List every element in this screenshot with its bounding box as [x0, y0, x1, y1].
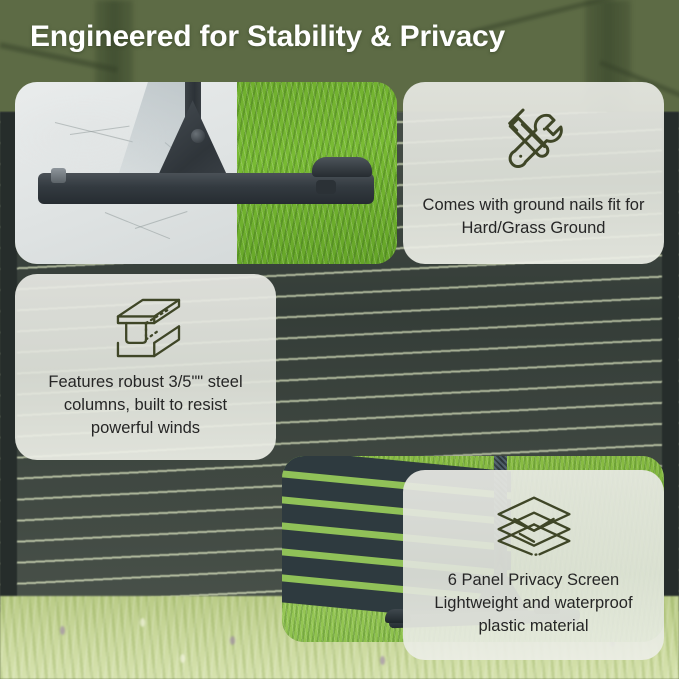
feature-card-privacy-panels: 6 Panel Privacy Screen Lightweight and w… [403, 470, 664, 660]
feature-line: Hard/Grass Ground [423, 217, 645, 240]
feature-line: plastic material [434, 615, 632, 638]
photo-base-foot [15, 82, 397, 264]
bracket-bolt [191, 129, 205, 143]
feature-text-ground-nails: Comes with ground nails fit for Hard/Gra… [409, 194, 659, 240]
feature-text-privacy-panels: 6 Panel Privacy Screen Lightweight and w… [420, 569, 646, 638]
ground-nail-stem [316, 180, 336, 194]
feature-text-steel-columns: Features robust 3/5"" steel columns, bui… [34, 371, 256, 440]
feature-line: powerful winds [48, 417, 242, 440]
feature-card-ground-nails: Comes with ground nails fit for Hard/Gra… [403, 82, 664, 264]
page-title: Engineered for Stability & Privacy [30, 20, 505, 54]
foot-screw [51, 168, 66, 183]
feature-line: Features robust 3/5"" steel [48, 371, 242, 394]
feature-line: 6 Panel Privacy Screen [434, 569, 632, 592]
feature-line: Comes with ground nails fit for [423, 194, 645, 217]
steel-i-beam-icon [106, 295, 186, 361]
background-fence-post-right [662, 112, 679, 612]
infographic-root: Engineered for Stability & Privacy [0, 0, 679, 679]
feature-line: columns, built to resist [48, 394, 242, 417]
tools-wrench-screwdriver-icon [497, 106, 571, 180]
feature-line: Lightweight and waterproof [434, 592, 632, 615]
stacked-layers-icon [490, 493, 578, 559]
feature-card-steel-columns: Features robust 3/5"" steel columns, bui… [15, 274, 276, 460]
ground-nail-knob [312, 157, 372, 177]
